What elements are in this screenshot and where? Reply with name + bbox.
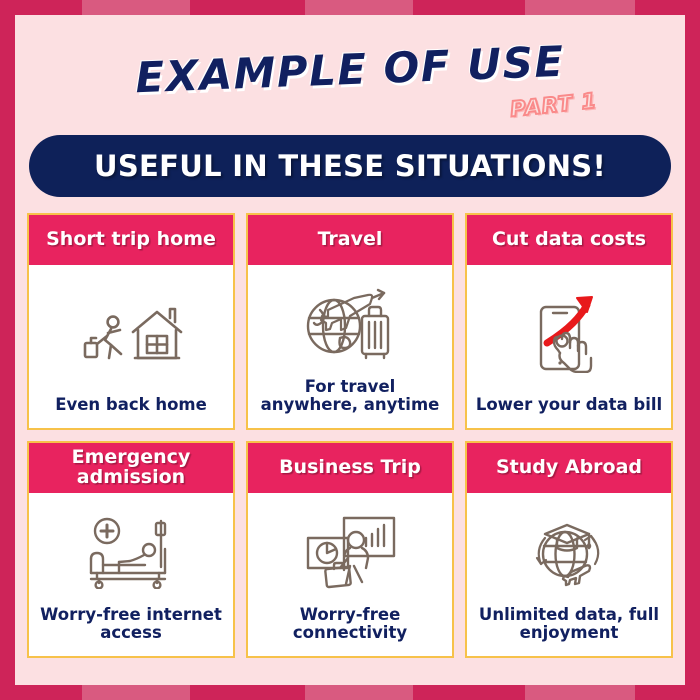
card-title: Cut data costs — [492, 230, 646, 250]
globe-airplane-suitcase-icon — [254, 269, 446, 378]
globe-graduation-cap-icon — [473, 497, 665, 606]
card-body: Lower your data bill — [467, 265, 671, 428]
card-emergency-admission[interactable]: Emergency admission — [27, 441, 235, 658]
card-title: Study Abroad — [496, 458, 642, 478]
card-header: Emergency admission — [29, 443, 233, 493]
card-title: Business Trip — [279, 458, 421, 478]
card-short-trip-home[interactable]: Short trip home — [27, 213, 235, 430]
card-title: Short trip home — [46, 230, 216, 250]
card-caption: Worry-free connectivity — [254, 606, 446, 648]
card-header: Study Abroad — [467, 443, 671, 493]
heading-area: EXAMPLE OF USE PART 1 — [25, 15, 675, 135]
card-header: Travel — [248, 215, 452, 265]
card-cut-data-costs[interactable]: Cut data costs — [465, 213, 673, 430]
right-border-bar — [685, 0, 700, 700]
situations-banner: USEFUL IN THESE SITUATIONS! — [29, 135, 671, 197]
card-body: Unlimited data, full enjoyment — [467, 493, 671, 656]
card-header: Business Trip — [248, 443, 452, 493]
card-study-abroad[interactable]: Study Abroad — [465, 441, 673, 658]
top-stripe-band — [0, 0, 700, 15]
part-badge: PART 1 — [509, 89, 598, 122]
card-caption: For travel anywhere, anytime — [254, 378, 446, 420]
card-travel[interactable]: Travel — [246, 213, 454, 430]
banner-title: USEFUL IN THESE SITUATIONS! — [94, 149, 606, 183]
bottom-stripe-band — [0, 685, 700, 700]
card-caption: Worry-free internet access — [35, 606, 227, 648]
traveler-with-house-icon — [35, 269, 227, 396]
card-header: Cut data costs — [467, 215, 671, 265]
businessman-charts-icon — [254, 497, 446, 606]
stripe-segment — [190, 0, 305, 15]
card-caption: Even back home — [55, 396, 207, 420]
card-body: For travel anywhere, anytime — [248, 265, 452, 428]
card-caption: Lower your data bill — [476, 396, 662, 420]
stripe-segment — [413, 685, 525, 700]
stripe-segment — [413, 0, 525, 15]
poster-canvas: EXAMPLE OF USE PART 1 USEFUL IN THESE SI… — [15, 15, 685, 685]
poster-root: EXAMPLE OF USE PART 1 USEFUL IN THESE SI… — [0, 0, 700, 700]
card-title: Travel — [318, 230, 383, 250]
card-body: Worry-free connectivity — [248, 493, 452, 656]
card-caption: Unlimited data, full enjoyment — [473, 606, 665, 648]
stripe-segment — [525, 0, 635, 15]
phone-tap-arrow-icon — [473, 269, 665, 396]
stripe-segment — [305, 0, 413, 15]
left-border-bar — [0, 0, 15, 700]
cards-grid: Short trip home — [25, 213, 675, 658]
stripe-segment — [82, 0, 190, 15]
card-body: Even back home — [29, 265, 233, 428]
stripe-segment — [190, 685, 305, 700]
card-header: Short trip home — [29, 215, 233, 265]
hospital-bed-icon — [35, 497, 227, 606]
stripe-segment — [82, 685, 190, 700]
card-title: Emergency admission — [33, 448, 229, 488]
card-business-trip[interactable]: Business Trip — [246, 441, 454, 658]
card-body: Worry-free internet access — [29, 493, 233, 656]
stripe-segment — [525, 685, 635, 700]
stripe-segment — [305, 685, 413, 700]
